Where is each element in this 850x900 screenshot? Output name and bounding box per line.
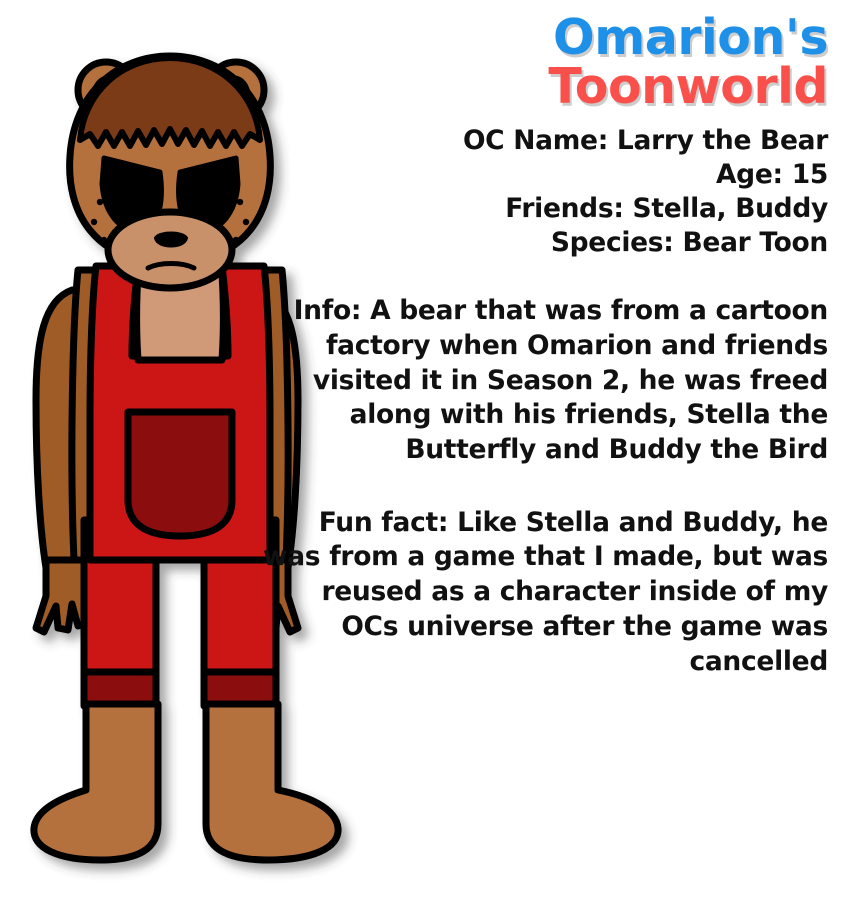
oc-reference-card: Omarion's Toonworld OC Name: Larry the B… [0, 0, 850, 900]
info-paragraph: Info: A bear that was from a cartoon fac… [250, 294, 828, 468]
info-panel: Omarion's Toonworld OC Name: Larry the B… [250, 0, 850, 900]
stat-species: Species: Bear Toon [250, 226, 828, 260]
nose [156, 234, 186, 246]
stat-oc-name: OC Name: Larry the Bear [250, 124, 828, 158]
muzzle [108, 212, 232, 288]
title-line-1: Omarion's [250, 14, 828, 62]
stat-age: Age: 15 [250, 158, 828, 192]
title-line-2: Toonworld [250, 63, 828, 111]
card-title: Omarion's Toonworld [250, 14, 828, 111]
character-stats: OC Name: Larry the Bear Age: 15 Friends:… [250, 124, 828, 260]
funfact-paragraph: Fun fact: Like Stella and Buddy, he was … [250, 506, 828, 680]
stat-friends: Friends: Stella, Buddy [250, 192, 828, 226]
head [70, 56, 271, 288]
